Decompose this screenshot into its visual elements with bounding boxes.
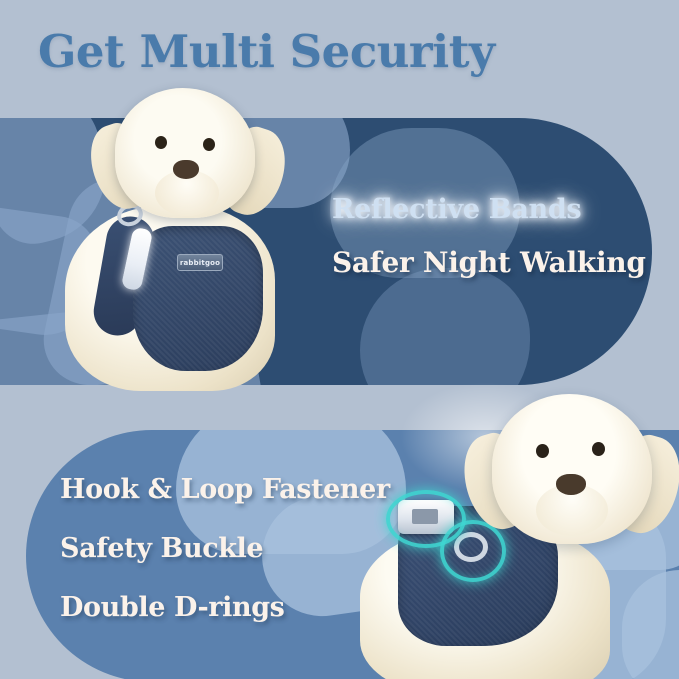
product-feature-poster: Get Multi Security rabbitgoo Reflective … [0,0,679,679]
decorative-blob-icon [360,268,530,385]
dog-eye-right [592,442,605,456]
dog-eye-right [203,138,215,151]
feature-hook-loop-fastener: Hook & Loop Fastener [60,476,420,503]
highlight-ring-dring [440,520,506,582]
dog-photo-bottom [380,378,679,679]
dog-photo-top: rabbitgoo [55,88,305,388]
feature-double-d-rings: Double D-rings [60,594,420,621]
dog-nose [556,474,586,495]
reflective-feature-list: Reflective Bands Safer Night Walking [332,196,662,277]
brand-label: rabbitgoo [177,254,223,271]
feature-safety-buckle: Safety Buckle [60,535,420,562]
dog-nose [173,160,199,179]
page-title: Get Multi Security [38,28,638,75]
feature-reflective-bands: Reflective Bands [332,196,662,223]
dog-eye-left [155,136,167,149]
dog-eye-left [536,444,549,458]
feature-safer-night-walking: Safer Night Walking [332,249,662,277]
fastener-feature-list: Hook & Loop Fastener Safety Buckle Doubl… [60,476,420,621]
harness-vest [133,226,263,371]
